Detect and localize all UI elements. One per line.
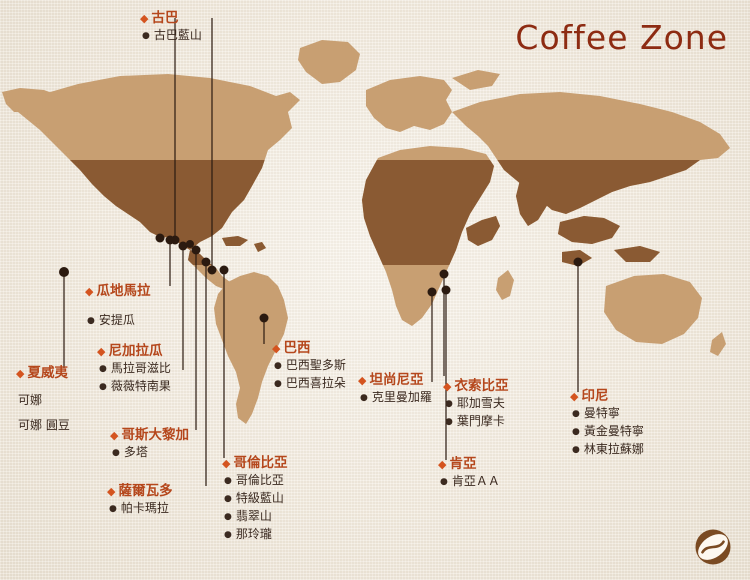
label-group-indonesia: ◆印尼 ●曼特寧 ●黃金曼特寧 ●林東拉蘇娜 <box>570 388 644 459</box>
region-item: ●薇薇特南果 <box>97 378 171 396</box>
bullet-icon: ● <box>224 512 232 522</box>
bullet-icon: ● <box>572 409 580 419</box>
region-heading-costa-rica: ◆哥斯大黎加 <box>110 427 189 444</box>
diamond-icon: ◆ <box>443 380 451 393</box>
region-heading-nicaragua: ◆尼加拉瓜 <box>97 343 171 360</box>
label-group-colombia: ◆哥倫比亞 ●哥倫比亞 ●特級藍山 ●翡翠山 ●那玲瓏 <box>222 455 287 544</box>
map-poster: Coffee Zone ◆古巴 ●古巴藍山 ◆瓜地馬拉 ●安提瓜 ◆夏威夷 可娜… <box>0 0 750 580</box>
diamond-icon: ◆ <box>140 12 148 25</box>
region-item: ●馬拉哥滋比 <box>97 360 171 378</box>
diamond-icon: ◆ <box>107 485 115 498</box>
bullet-icon: ● <box>274 379 282 389</box>
bullet-icon: ● <box>445 417 453 427</box>
region-item: ●耶加雪夫 <box>443 395 508 413</box>
bullet-icon: ● <box>224 494 232 504</box>
diamond-icon: ◆ <box>438 458 446 471</box>
label-group-costa-rica: ◆哥斯大黎加 ●多塔 <box>110 427 189 462</box>
label-group-nicaragua: ◆尼加拉瓜 ●馬拉哥滋比 ●薇薇特南果 <box>97 343 171 396</box>
region-heading-hawaii: ◆夏威夷 <box>16 365 70 382</box>
region-heading-guatemala: ◆瓜地馬拉 <box>85 283 150 300</box>
region-item: ●古巴藍山 <box>140 27 202 45</box>
region-heading-tanzania: ◆坦尚尼亞 <box>358 372 432 389</box>
diamond-icon: ◆ <box>85 285 93 298</box>
region-item: ●巴西喜拉朵 <box>272 375 346 393</box>
region-item: 可娜 <box>16 392 70 409</box>
label-group-cuba: ◆古巴 ●古巴藍山 <box>140 10 202 45</box>
region-item: ●翡翠山 <box>222 508 287 526</box>
diamond-icon: ◆ <box>16 367 24 380</box>
diamond-icon: ◆ <box>110 429 118 442</box>
region-item: 可娜 圓豆 <box>16 417 70 434</box>
region-heading-ethiopia: ◆衣索比亞 <box>443 378 508 395</box>
bullet-icon: ● <box>224 476 232 486</box>
bullet-icon: ● <box>224 530 232 540</box>
region-heading-indonesia: ◆印尼 <box>570 388 644 405</box>
region-item: ●多塔 <box>110 444 189 462</box>
region-heading-el-salvador: ◆薩爾瓦多 <box>107 483 172 500</box>
region-item: ●克里曼加羅 <box>358 389 432 407</box>
bullet-icon: ● <box>572 427 580 437</box>
label-group-el-salvador: ◆薩爾瓦多 ●帕卡瑪拉 <box>107 483 172 518</box>
region-item: ●黃金曼特寧 <box>570 423 644 441</box>
label-group-brazil: ◆巴西 ●巴西聖多斯 ●巴西喜拉朵 <box>272 340 346 393</box>
diamond-icon: ◆ <box>272 342 280 355</box>
bullet-icon: ● <box>112 448 120 458</box>
region-item: ●葉門摩卡 <box>443 413 508 431</box>
diamond-icon: ◆ <box>97 345 105 358</box>
bullet-icon: ● <box>274 361 282 371</box>
bullet-icon: ● <box>99 382 107 392</box>
diamond-icon: ◆ <box>570 390 578 403</box>
region-item: ●帕卡瑪拉 <box>107 500 172 518</box>
label-group-hawaii: ◆夏威夷 可娜 可娜 圓豆 <box>16 365 70 434</box>
region-heading-cuba: ◆古巴 <box>140 10 202 27</box>
bullet-icon: ● <box>99 364 107 374</box>
label-group-ethiopia: ◆衣索比亞 ●耶加雪夫 ●葉門摩卡 <box>443 378 508 431</box>
region-item: ●安提瓜 <box>85 312 150 330</box>
bullet-icon: ● <box>87 316 95 326</box>
region-item: ●林東拉蘇娜 <box>570 441 644 459</box>
region-item: ●那玲瓏 <box>222 526 287 544</box>
bullet-icon: ● <box>440 477 448 487</box>
region-item: ●哥倫比亞 <box>222 472 287 490</box>
bullet-icon: ● <box>445 399 453 409</box>
label-group-kenya: ◆肯亞 ●肯亞ＡＡ <box>438 456 500 491</box>
bullet-icon: ● <box>360 393 368 403</box>
coffee-bean-logo <box>692 526 734 568</box>
diamond-icon: ◆ <box>222 457 230 470</box>
label-group-tanzania: ◆坦尚尼亞 ●克里曼加羅 <box>358 372 432 407</box>
region-item: ●巴西聖多斯 <box>272 357 346 375</box>
region-heading-brazil: ◆巴西 <box>272 340 346 357</box>
bullet-icon: ● <box>572 445 580 455</box>
region-item: ●曼特寧 <box>570 405 644 423</box>
region-item: ●特級藍山 <box>222 490 287 508</box>
label-group-guatemala: ◆瓜地馬拉 ●安提瓜 <box>85 283 150 330</box>
diamond-icon: ◆ <box>358 374 366 387</box>
page-title: Coffee Zone <box>515 18 728 57</box>
bullet-icon: ● <box>142 31 150 41</box>
region-item: ●肯亞ＡＡ <box>438 473 500 491</box>
bullet-icon: ● <box>109 504 117 514</box>
region-heading-kenya: ◆肯亞 <box>438 456 500 473</box>
region-heading-colombia: ◆哥倫比亞 <box>222 455 287 472</box>
